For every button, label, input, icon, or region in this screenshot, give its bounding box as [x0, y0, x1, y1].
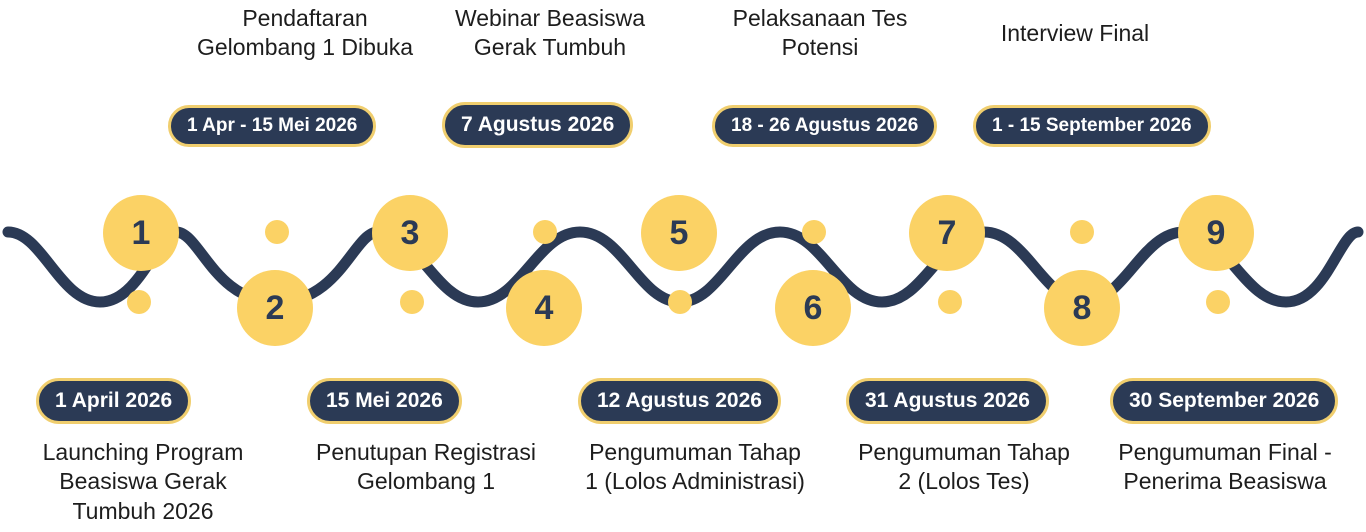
wave-dot-1: [127, 290, 151, 314]
wave-dot-2: [265, 220, 289, 244]
timeline-node-1[interactable]: 1: [103, 195, 179, 271]
bottom-caption-4: Pengumuman Tahap 2 (Lolos Tes): [830, 438, 1098, 497]
wave-dot-9: [1206, 290, 1230, 314]
wave-dot-4: [533, 220, 557, 244]
bottom-date-pill-2[interactable]: 15 Mei 2026: [307, 378, 462, 424]
wave-dot-5: [668, 290, 692, 314]
timeline-node-7[interactable]: 7: [909, 195, 985, 271]
top-date-pill-1[interactable]: 1 Apr - 15 Mei 2026: [168, 105, 376, 147]
bottom-date-pill-4[interactable]: 31 Agustus 2026: [846, 378, 1049, 424]
timeline-node-2[interactable]: 2: [237, 270, 313, 346]
top-date-pill-3[interactable]: 18 - 26 Agustus 2026: [712, 105, 937, 147]
wave-dot-6: [802, 220, 826, 244]
wave-dot-7: [938, 290, 962, 314]
timeline-node-3[interactable]: 3: [372, 195, 448, 271]
bottom-date-pill-5[interactable]: 30 September 2026: [1110, 378, 1338, 424]
bottom-date-pill-1[interactable]: 1 April 2026: [36, 378, 191, 424]
timeline-node-9[interactable]: 9: [1178, 195, 1254, 271]
top-caption-4: Interview Final: [945, 19, 1205, 48]
top-caption-3: Pelaksanaan Tes Potensi: [690, 4, 950, 63]
top-date-pill-2[interactable]: 7 Agustus 2026: [442, 102, 633, 148]
timeline-node-5[interactable]: 5: [641, 195, 717, 271]
timeline-node-6[interactable]: 6: [775, 270, 851, 346]
bottom-caption-2: Penutupan Registrasi Gelombang 1: [295, 438, 557, 497]
bottom-caption-1: Launching Program Beasiswa Gerak Tumbuh …: [18, 438, 268, 526]
bottom-caption-3: Pengumuman Tahap 1 (Lolos Administrasi): [560, 438, 830, 497]
bottom-caption-5: Pengumuman Final - Penerima Beasiswa: [1090, 438, 1360, 497]
timeline-node-4[interactable]: 4: [506, 270, 582, 346]
top-caption-2: Webinar Beasiswa Gerak Tumbuh: [405, 4, 695, 63]
wave-dot-8: [1070, 220, 1094, 244]
wave-dot-3: [400, 290, 424, 314]
timeline-node-8[interactable]: 8: [1044, 270, 1120, 346]
bottom-date-pill-3[interactable]: 12 Agustus 2026: [578, 378, 781, 424]
top-date-pill-4[interactable]: 1 - 15 September 2026: [973, 105, 1211, 147]
timeline-infographic: Pendaftaran Gelombang 1 Dibuka Webinar B…: [0, 0, 1366, 532]
